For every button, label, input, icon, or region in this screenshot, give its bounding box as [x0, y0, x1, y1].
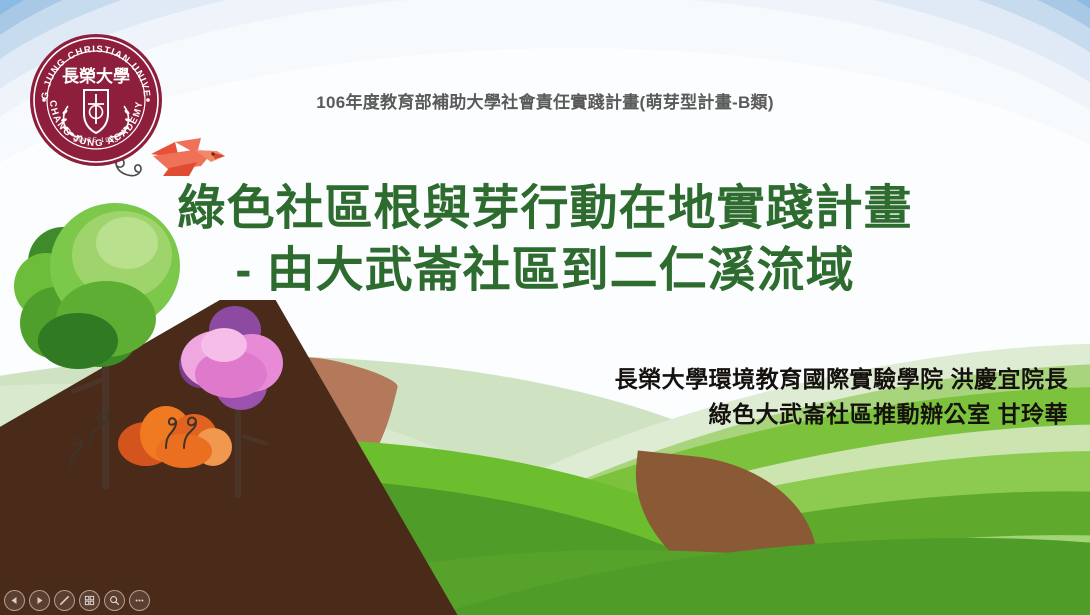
- foreground-green-field: [0, 550, 1090, 615]
- credit-line-1: 長榮大學環境教育國際實驗學院 洪慶宜院長: [615, 362, 1068, 397]
- magnifier-icon: [109, 595, 120, 606]
- slide-grid-button[interactable]: [79, 590, 100, 611]
- presentation-slide: CHANG JUNG CHRISTIAN UNIVERSITY CHANG JU…: [0, 0, 1090, 615]
- grid-icon: [84, 595, 95, 606]
- svg-text:長榮大學: 長榮大學: [62, 66, 130, 87]
- slide-title-line-2: - 由大武崙社區到二仁溪流域: [0, 240, 1090, 302]
- more-options-button[interactable]: [129, 590, 150, 611]
- svg-text:SINCE 1993: SINCE 1993: [73, 137, 119, 144]
- presenter-credits: 長榮大學環境教育國際實驗學院 洪慶宜院長 綠色大武崙社區推動辦公室 甘玲華: [615, 362, 1068, 432]
- credit-line-2: 綠色大武崙社區推動辦公室 甘玲華: [615, 397, 1068, 432]
- previous-slide-button[interactable]: [4, 590, 25, 611]
- zoom-button[interactable]: [104, 590, 125, 611]
- presentation-toolbar: [2, 588, 152, 613]
- triangle-left-icon: [10, 596, 19, 605]
- slide-title-line-1: 綠色社區根與芽行動在地實踐計畫: [0, 178, 1090, 240]
- foreground-green-field-2: [120, 538, 1090, 615]
- triangle-right-icon: [35, 596, 44, 605]
- dirt-path-light-right: [623, 450, 827, 609]
- slide-subtitle: 106年度教育部補助大學社會責任實踐計畫(萌芽型計畫-B類): [0, 88, 1090, 113]
- pen-tool-button[interactable]: [54, 590, 75, 611]
- field-band-8: [227, 535, 1090, 615]
- field-band-7: [285, 481, 1090, 615]
- next-slide-button[interactable]: [29, 590, 50, 611]
- ellipsis-icon: [134, 595, 145, 606]
- pen-icon: [59, 595, 70, 606]
- slide-title: 綠色社區根與芽行動在地實踐計畫 - 由大武崙社區到二仁溪流域: [0, 178, 1090, 302]
